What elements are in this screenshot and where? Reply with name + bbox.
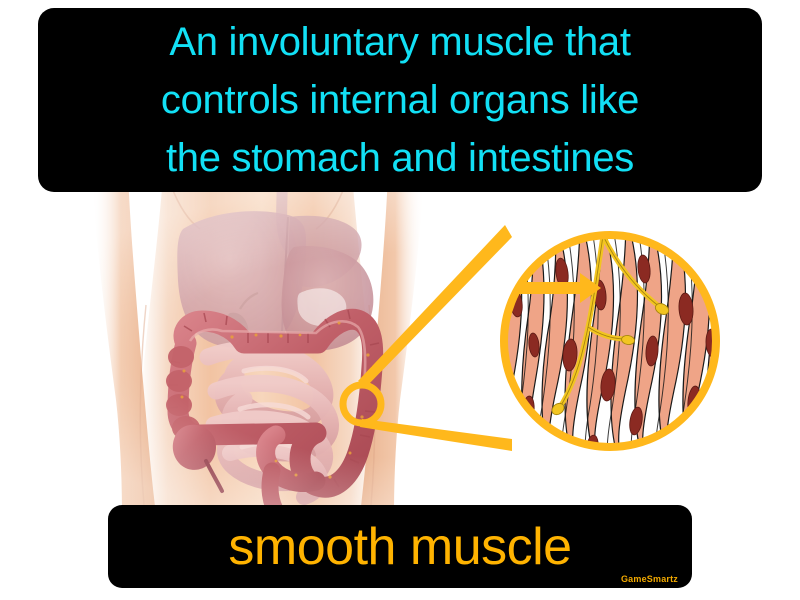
definition-panel: An involuntary muscle that controls inte… — [38, 8, 762, 192]
watermark-label: GameSmartz — [621, 574, 678, 584]
anatomy-illustration — [0, 185, 800, 525]
term-label: smooth muscle — [228, 519, 571, 575]
term-panel: smooth muscle GameSmartz — [108, 505, 692, 588]
definition-card: An involuntary muscle that controls inte… — [0, 0, 800, 600]
definition-line-3: the stomach and intestines — [166, 129, 634, 187]
definition-line-1: An involuntary muscle that — [169, 13, 630, 71]
definition-line-2: controls internal organs like — [161, 71, 639, 129]
